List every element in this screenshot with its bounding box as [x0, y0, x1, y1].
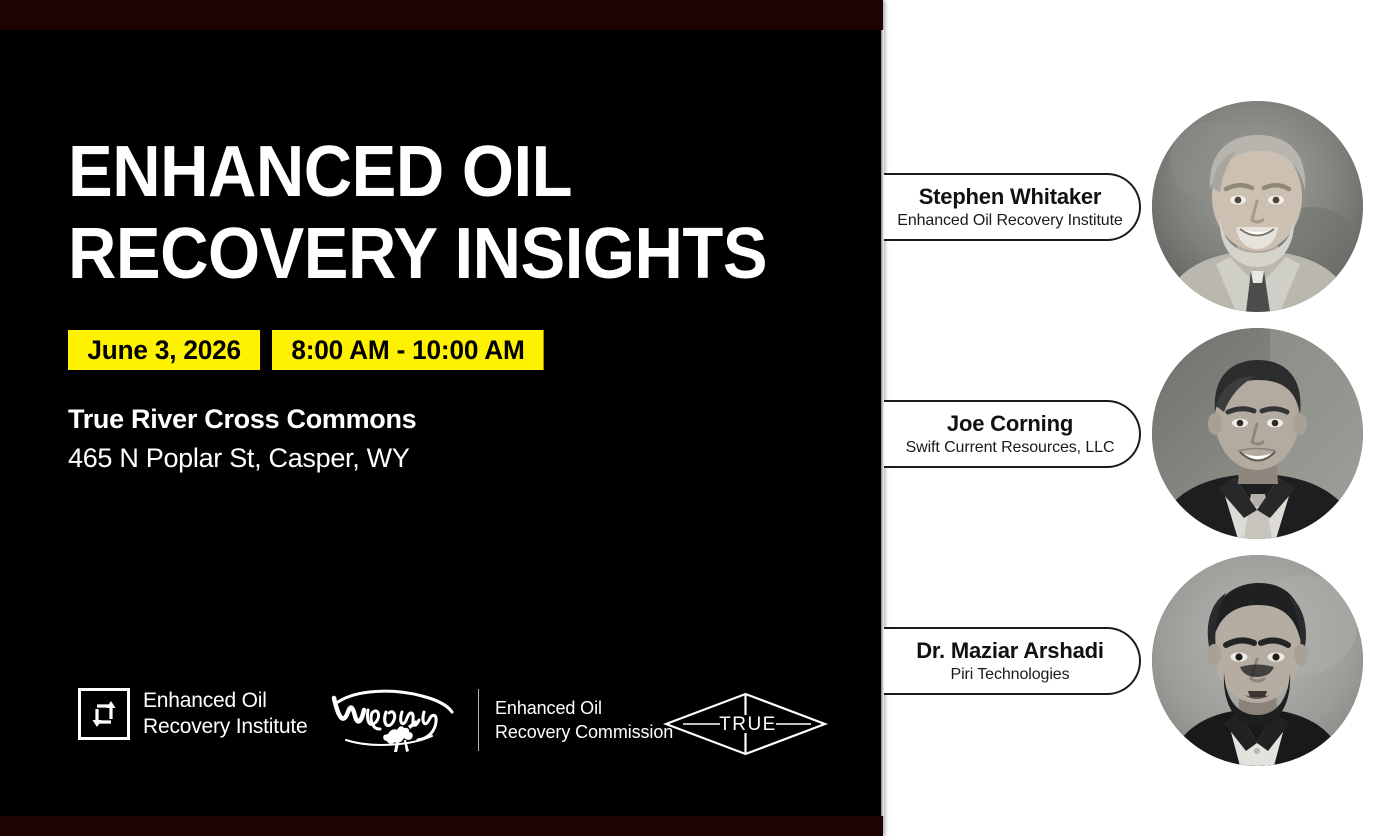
- speaker-list: Stephen Whitaker Enhanced Oil Recovery I…: [0, 0, 1400, 836]
- speaker-nameplate: Dr. Maziar Arshadi Piri Technologies: [881, 627, 1141, 695]
- event-poster: ENHANCED OIL RECOVERY INSIGHTS June 3, 2…: [0, 0, 1400, 836]
- speaker-nameplate: Joe Corning Swift Current Resources, LLC: [881, 400, 1141, 468]
- bottom-accent-strip: [0, 816, 883, 836]
- portrait-joe-corning-icon: [1152, 328, 1363, 539]
- speaker-org: Enhanced Oil Recovery Institute: [897, 212, 1122, 230]
- speaker-card: Dr. Maziar Arshadi Piri Technologies: [881, 549, 1400, 777]
- speaker-card: Stephen Whitaker Enhanced Oil Recovery I…: [881, 95, 1400, 323]
- avatar: [1152, 101, 1363, 312]
- portrait-stephen-whitaker-icon: [1152, 101, 1363, 312]
- top-accent-strip: [0, 0, 883, 30]
- avatar: [1152, 328, 1363, 539]
- speaker-nameplate: Stephen Whitaker Enhanced Oil Recovery I…: [881, 173, 1141, 241]
- speaker-name: Dr. Maziar Arshadi: [916, 638, 1104, 664]
- speaker-name: Joe Corning: [947, 411, 1073, 437]
- panel-edge-shadow: [881, 30, 884, 816]
- avatar: [1152, 555, 1363, 766]
- portrait-maziar-arshadi-icon: [1152, 555, 1363, 766]
- speaker-card: Joe Corning Swift Current Resources, LLC: [881, 322, 1400, 550]
- speaker-org: Swift Current Resources, LLC: [906, 439, 1115, 457]
- speaker-name: Stephen Whitaker: [919, 184, 1102, 210]
- speaker-org: Piri Technologies: [951, 666, 1070, 684]
